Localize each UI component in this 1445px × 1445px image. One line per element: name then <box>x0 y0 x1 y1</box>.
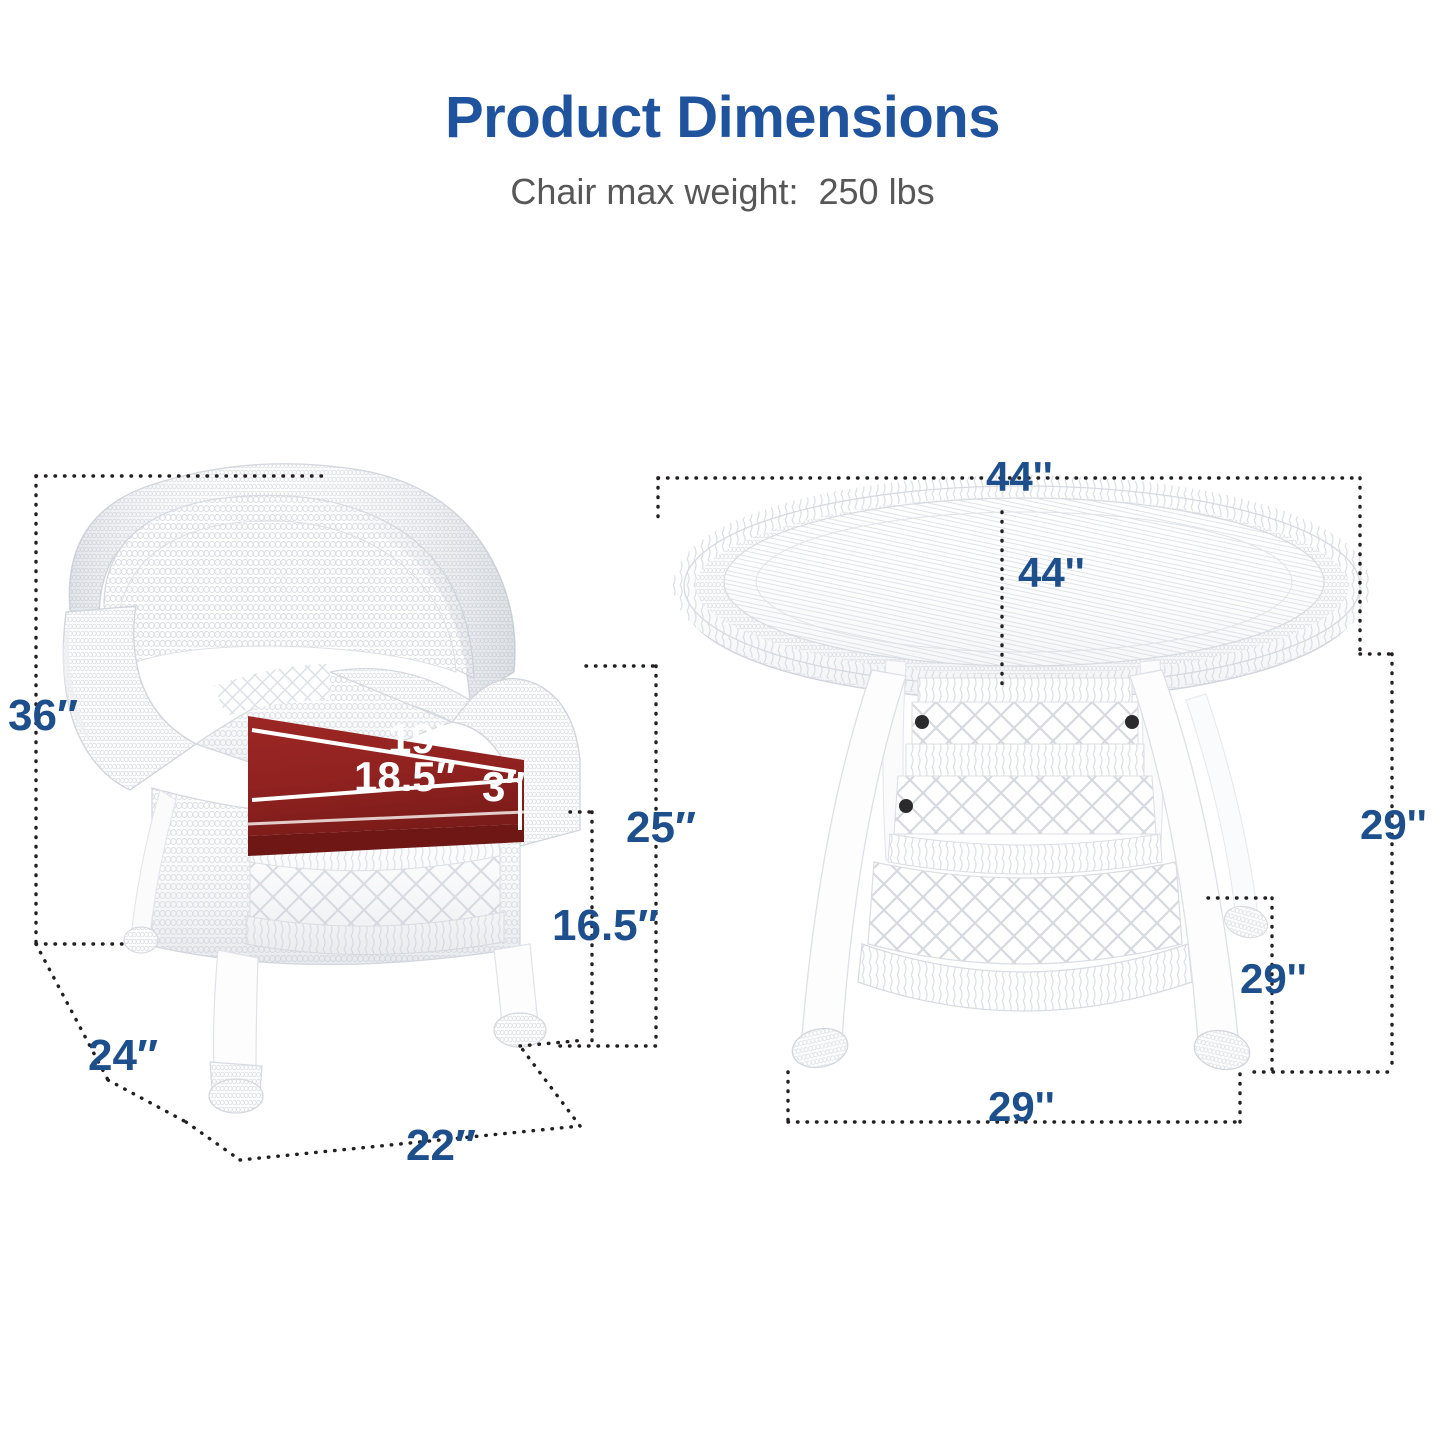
chair-footprint-back <box>108 1080 186 1122</box>
chair-footprint-right <box>520 1046 580 1126</box>
table-top-width-label: 44'' <box>986 456 1053 498</box>
chair-depth-label: 24″ <box>88 1034 158 1078</box>
table-height-label: 29'' <box>1360 804 1427 846</box>
chair-arm-height-label: 25″ <box>626 806 696 850</box>
cushion-width-label: 18.5″ <box>354 756 456 798</box>
table-top-depth-label: 44'' <box>1018 552 1085 594</box>
chair-seat-height-label: 16.5″ <box>552 904 659 948</box>
cushion-thickness-label: 3″ <box>482 766 525 808</box>
table-base-depth-label: 29'' <box>1240 958 1307 1000</box>
chair-width-label: 22″ <box>406 1124 476 1168</box>
chair-height-label: 36″ <box>8 694 78 738</box>
product-illustrations <box>0 0 1445 1445</box>
table-base-width-label: 29'' <box>988 1086 1055 1128</box>
table-base <box>789 660 1272 1074</box>
product-dimensions-infographic: Product Dimensions Chair max weight: 250… <box>0 0 1445 1445</box>
chair-footprint-corner <box>186 1122 240 1160</box>
